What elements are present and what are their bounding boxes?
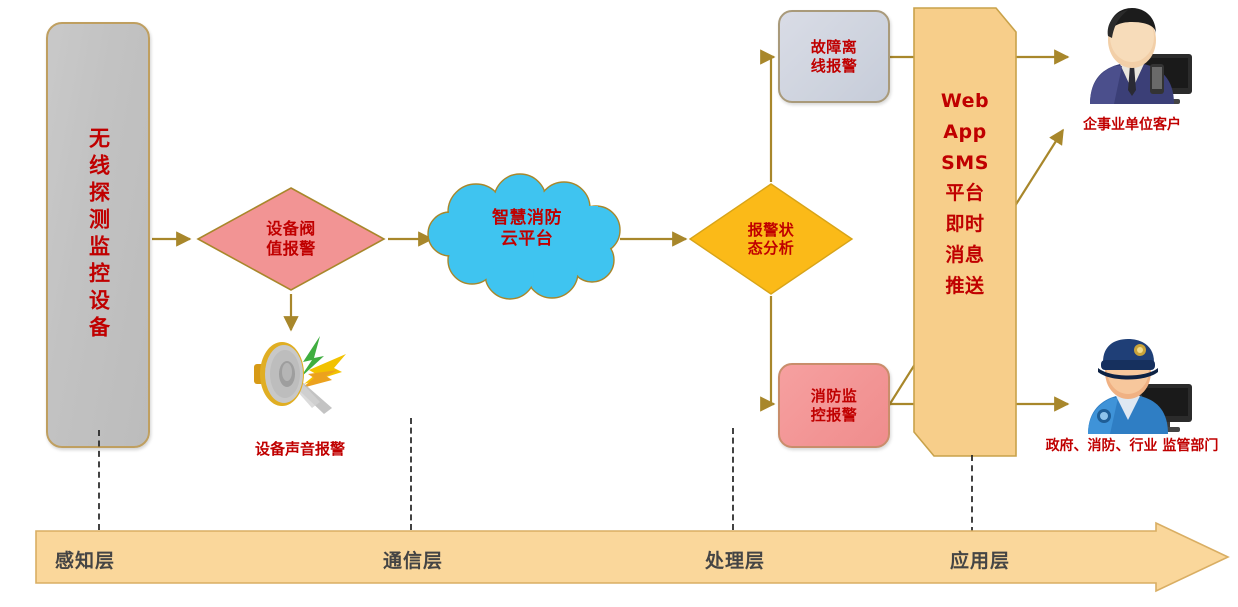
layer-separator bbox=[410, 418, 412, 530]
enterprise-client-label: 企事业单位客户 bbox=[1032, 117, 1232, 135]
fire-monitor-alarm-label: 消防监 控报警 bbox=[811, 387, 858, 424]
sound-alarm-label: 设备声音报警 bbox=[200, 438, 400, 459]
cloud-platform-node[interactable]: 智慧消防 云平台 bbox=[424, 172, 630, 300]
sensing-device-node[interactable]: 无线探测监控设备 bbox=[46, 22, 150, 448]
push-platform-node[interactable]: Web App SMS 平台 即时 消息 推送 bbox=[912, 6, 1018, 458]
push-platform-label: Web App SMS 平台 即时 消息 推送 bbox=[912, 86, 1018, 301]
layer-separator bbox=[732, 428, 734, 530]
fault-offline-alarm-label: 故障离 线报警 bbox=[811, 38, 858, 75]
speaker-icon bbox=[246, 318, 354, 426]
layer-label-perception: 感知层 bbox=[55, 546, 115, 573]
sensing-device-label: 无线探测监控设备 bbox=[88, 127, 109, 343]
government-supervisor-avatar bbox=[1070, 336, 1200, 446]
cloud-platform-label: 智慧消防 云平台 bbox=[424, 208, 630, 249]
government-supervisor-label: 政府、消防、行业 监管部门 bbox=[1032, 438, 1232, 456]
edge-analysis-to-fault bbox=[771, 57, 774, 182]
layer-arrow-bar bbox=[34, 521, 1230, 593]
connector-layer bbox=[0, 0, 1238, 607]
enterprise-client-avatar bbox=[1070, 4, 1200, 116]
layer-label-application: 应用层 bbox=[950, 546, 1010, 573]
edge-analysis-to-fire bbox=[771, 296, 774, 404]
layer-label-communication: 通信层 bbox=[383, 546, 443, 573]
layer-separator bbox=[98, 430, 100, 530]
fault-offline-alarm-node[interactable]: 故障离 线报警 bbox=[778, 10, 890, 103]
fire-monitor-alarm-node[interactable]: 消防监 控报警 bbox=[778, 363, 890, 448]
threshold-alarm-node[interactable]: 设备阀 值报警 bbox=[196, 186, 386, 292]
diagram-canvas: 无线探测监控设备 设备阀 值报警 设备声音报警 bbox=[0, 0, 1238, 607]
threshold-alarm-label: 设备阀 值报警 bbox=[266, 219, 316, 258]
alarm-state-analysis-node[interactable]: 报警状 态分析 bbox=[688, 182, 854, 296]
layer-label-processing: 处理层 bbox=[705, 546, 765, 573]
alarm-state-analysis-label: 报警状 态分析 bbox=[748, 221, 795, 258]
